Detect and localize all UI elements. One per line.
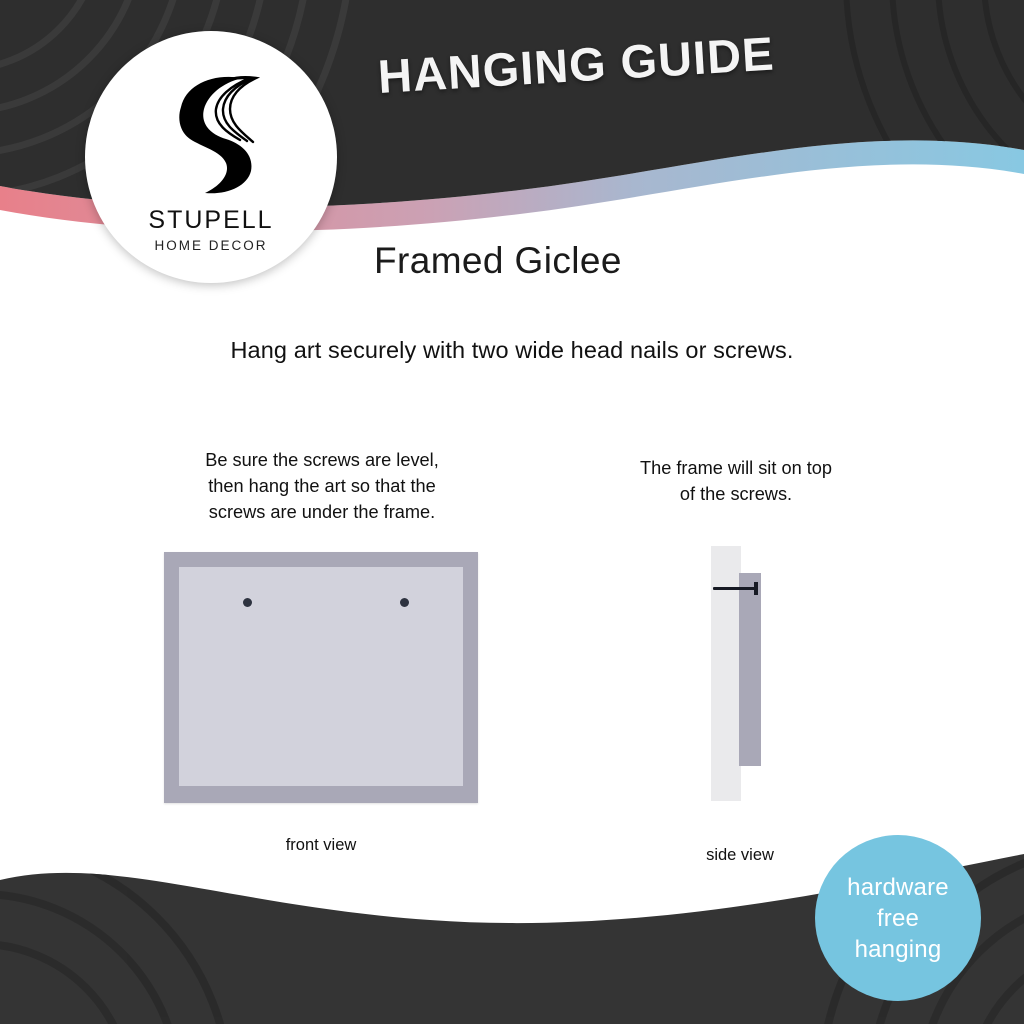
- screw-hole-left-icon: [243, 598, 252, 607]
- caption-line: screws are under the frame.: [166, 499, 478, 525]
- screw-hole-right-icon: [400, 598, 409, 607]
- page-title: HANGING GUIDE: [376, 26, 775, 104]
- brand-logo-badge: STUPELL HOME DECOR: [85, 31, 337, 283]
- product-name: Framed Giclee: [374, 240, 622, 282]
- side-view-diagram: [700, 540, 780, 808]
- frame-mat-area: [179, 567, 463, 786]
- swirl-s-icon: [150, 69, 272, 197]
- caption-line: of the screws.: [596, 481, 876, 507]
- logo-tagline: HOME DECOR: [154, 238, 267, 253]
- caption-line: then hang the art so that the: [166, 473, 478, 499]
- front-view-caption: Be sure the screws are level, then hang …: [166, 447, 478, 525]
- badge-line-3: hanging: [855, 934, 942, 965]
- wall-surface: [711, 546, 741, 801]
- nail-head-icon: [754, 582, 758, 595]
- caption-line: The frame will sit on top: [596, 455, 876, 481]
- side-view-caption: The frame will sit on top of the screws.: [596, 455, 876, 507]
- badge-line-1: hardware: [847, 872, 949, 903]
- logo-wordmark: STUPELL: [148, 206, 273, 235]
- front-view-diagram: [164, 552, 478, 803]
- caption-line: Be sure the screws are level,: [166, 447, 478, 473]
- frame-profile: [739, 573, 761, 766]
- hanging-guide-page: HANGING GUIDE STUPELL HOME DECOR Framed …: [0, 0, 1024, 1024]
- side-view-label: side view: [660, 846, 820, 865]
- nail-shaft-icon: [713, 587, 757, 590]
- hardware-free-hanging-badge: hardware free hanging: [815, 835, 981, 1001]
- main-instruction: Hang art securely with two wide head nai…: [0, 337, 1024, 364]
- badge-line-2: free: [877, 903, 919, 934]
- front-view-label: front view: [164, 836, 478, 855]
